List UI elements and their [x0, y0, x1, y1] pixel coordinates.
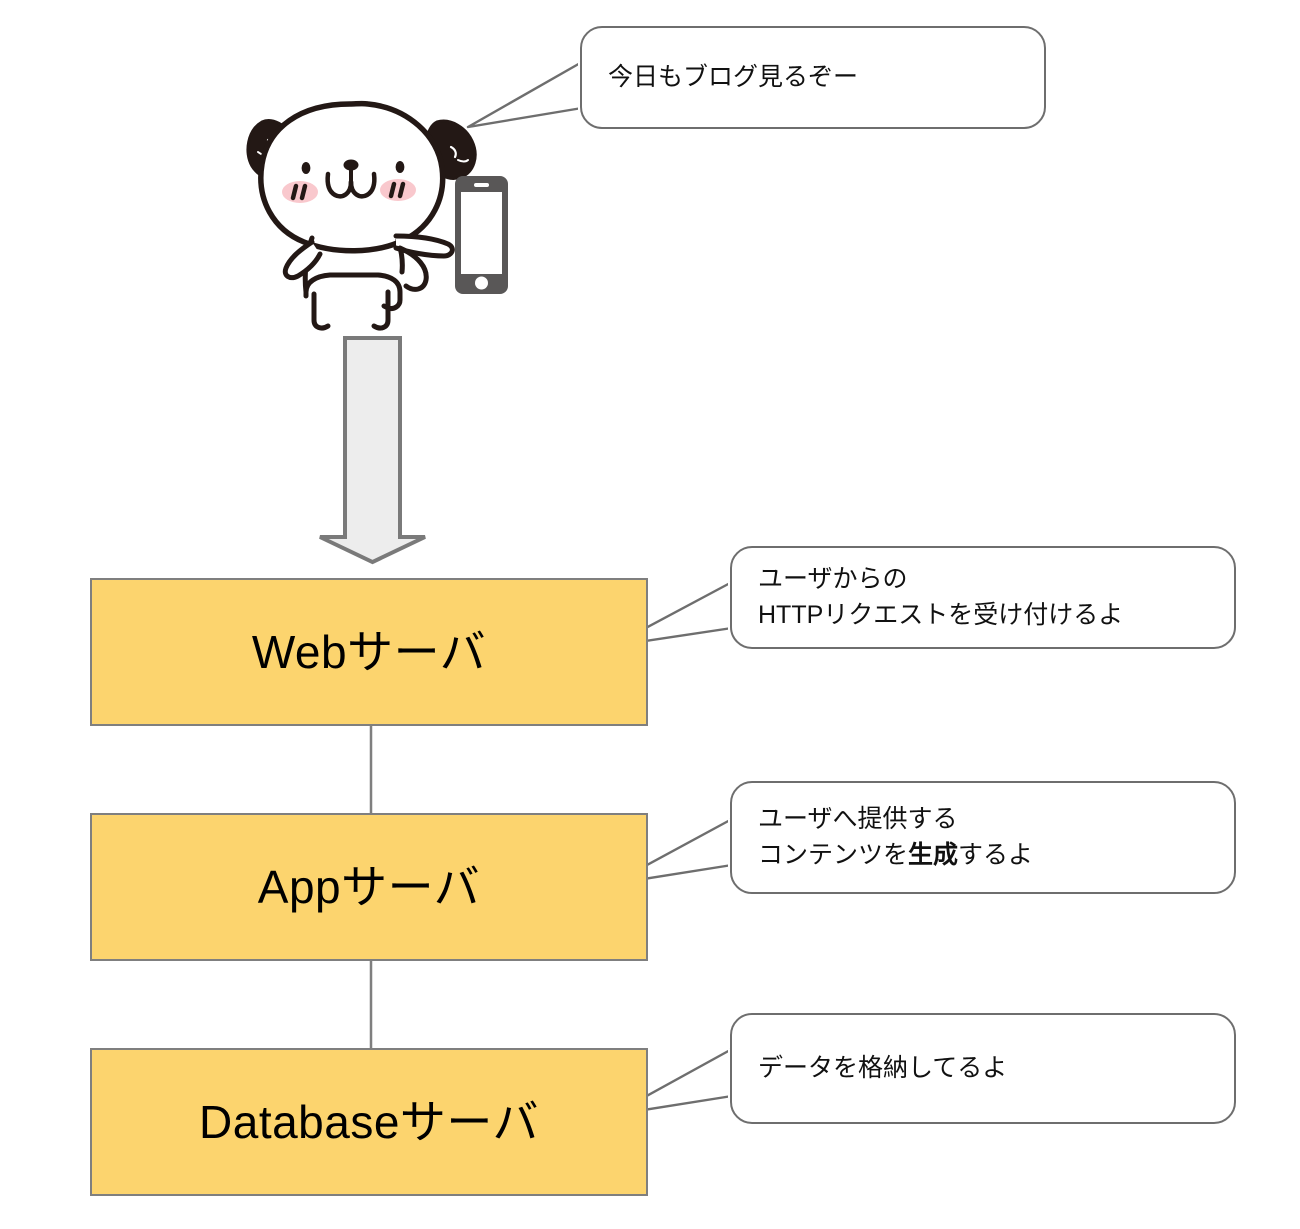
bubble-app-line-1: ユーザへ提供する: [758, 802, 1208, 838]
app-server-box[interactable]: Appサーバ: [90, 813, 648, 961]
bubble-tail-user: [468, 62, 582, 127]
down-arrow-icon: [320, 338, 425, 562]
bubble-db-line-1: データを格納してるよ: [758, 1051, 1208, 1087]
diagram-canvas: 今日もブログ見るぞー ユーザからの HTTPリクエストを受け付けるよ ユーザへ提…: [0, 0, 1300, 1229]
bubble-app-line-2-prefix: コンテンツを: [758, 841, 908, 869]
bubble-web-line-2: HTTPリクエストを受け付けるよ: [758, 598, 1208, 634]
app-server-label: Appサーバ: [258, 864, 480, 910]
bubble-app-line-2-emphasis: 生成: [908, 841, 958, 869]
dog-character-illustration: [248, 104, 475, 328]
web-server-label: Webサーバ: [252, 629, 486, 675]
speech-bubble-user: 今日もブログ見るぞー: [580, 26, 1046, 129]
bubble-web-line-1: ユーザからの: [758, 562, 1208, 598]
speech-bubble-database-server: データを格納してるよ: [730, 1013, 1236, 1124]
bubble-app-line-2-suffix: するよ: [958, 841, 1033, 869]
speech-bubble-app-server: ユーザへ提供する コンテンツを生成するよ: [730, 781, 1236, 894]
smartphone-icon: [455, 176, 508, 294]
bubble-app-line-2: コンテンツを生成するよ: [758, 838, 1208, 874]
web-server-box[interactable]: Webサーバ: [90, 578, 648, 726]
database-server-label: Databaseサーバ: [199, 1099, 539, 1145]
speech-bubble-web-server: ユーザからの HTTPリクエストを受け付けるよ: [730, 546, 1236, 649]
bubble-user-line-1: 今日もブログ見るぞー: [608, 60, 1018, 96]
database-server-box[interactable]: Databaseサーバ: [90, 1048, 648, 1196]
